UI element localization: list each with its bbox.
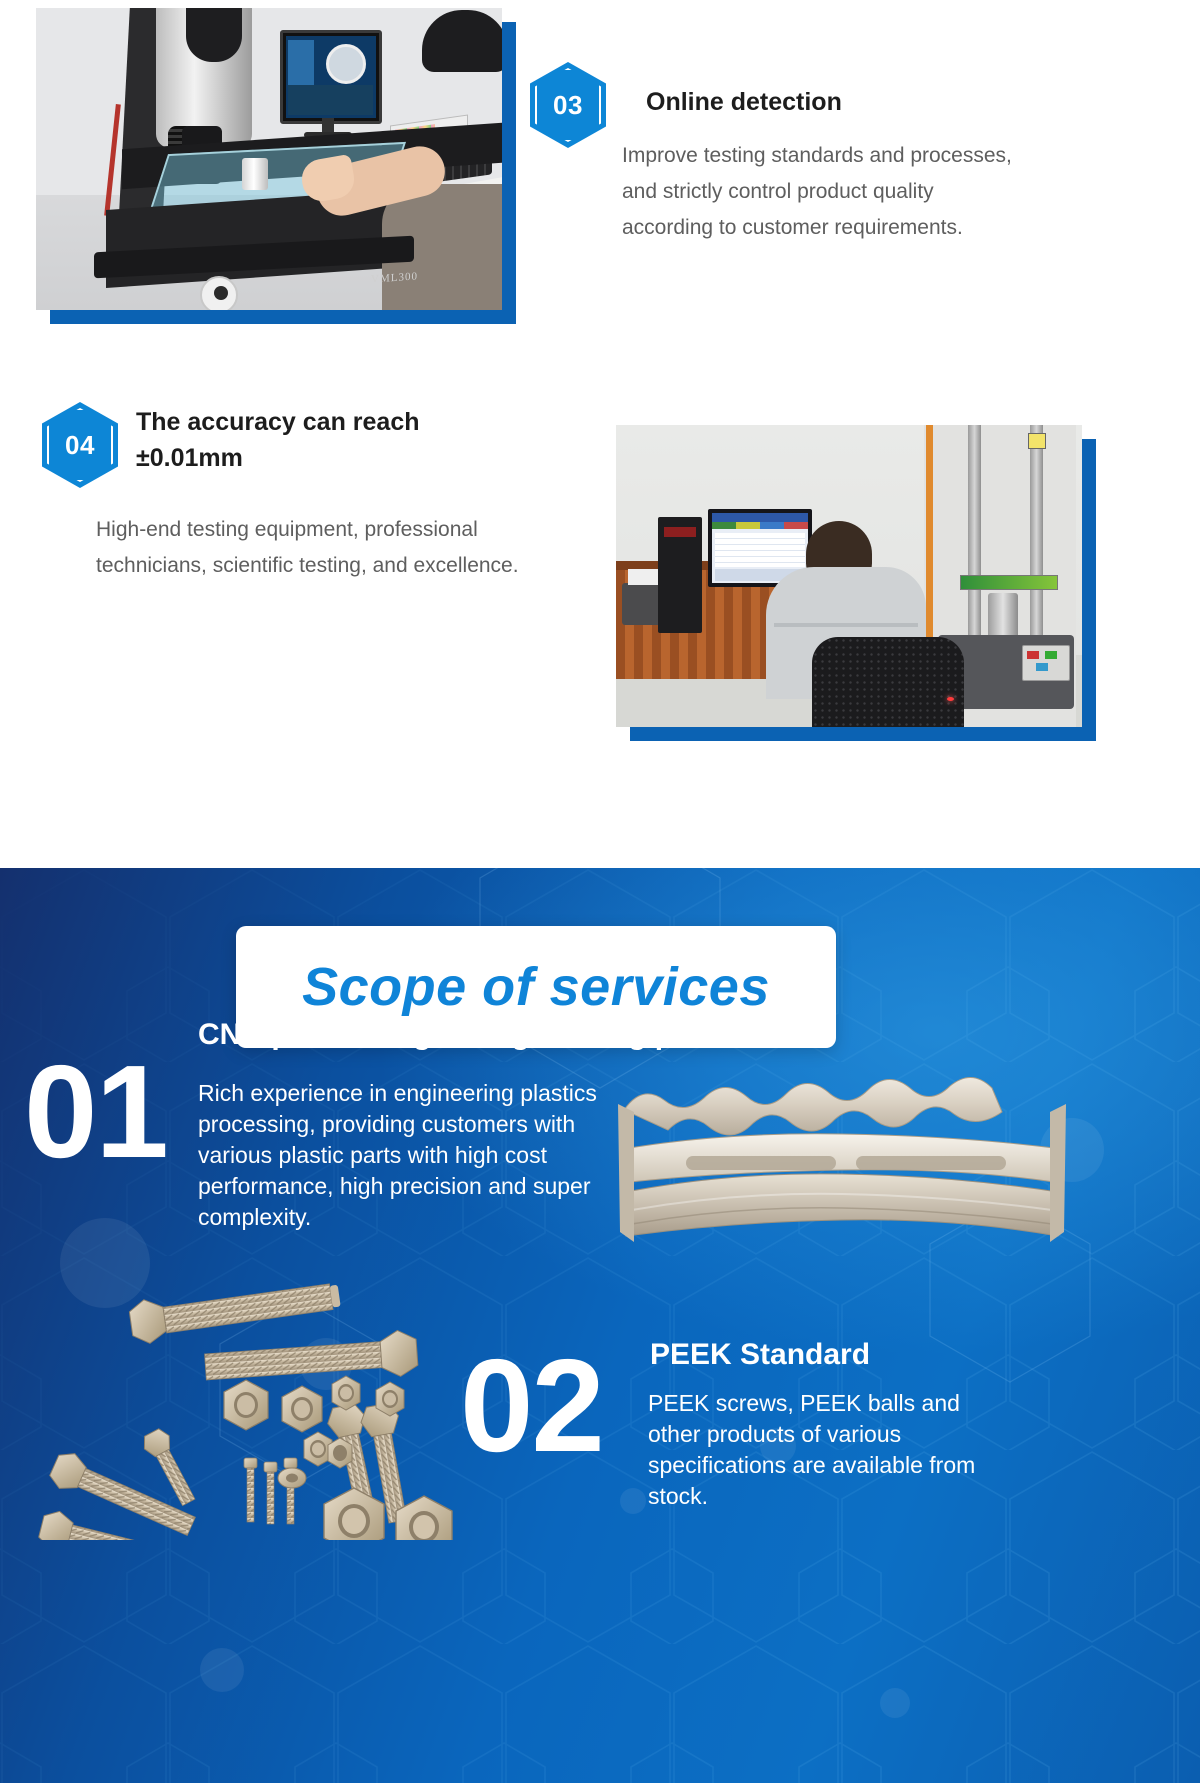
peek-machined-part-illustration xyxy=(616,1052,1068,1278)
feature-title-03: Online detection xyxy=(646,84,1066,120)
peek-fasteners-photo xyxy=(36,1272,488,1540)
feature-number-04: 04 xyxy=(42,402,118,488)
photo-image: VML300 xyxy=(36,8,502,310)
service-title-01: CNC processing of engineering plastics xyxy=(198,1018,938,1052)
cnc-part-photo xyxy=(616,1052,1068,1278)
feature-number-03: 03 xyxy=(530,62,606,148)
features-section: VML300 03 Online detection Improve testi… xyxy=(0,0,1200,868)
feature-body-03: Improve testing standards and processes,… xyxy=(622,138,1022,246)
photo-image xyxy=(616,425,1082,727)
feature-title-04: The accuracy can reach ±0.01mm xyxy=(136,404,516,477)
service-number-02: 02 xyxy=(460,1340,603,1472)
vision-measuring-machine-illustration: VML300 xyxy=(36,8,502,310)
service-number-01: 01 xyxy=(24,1046,167,1178)
scope-title: Scope of services xyxy=(302,956,770,1018)
marketing-page: VML300 03 Online detection Improve testi… xyxy=(0,0,1200,1783)
feature-badge-03: 03 xyxy=(530,62,606,148)
service-title-02: PEEK Standard xyxy=(650,1338,1130,1372)
peek-screws-illustration xyxy=(36,1272,488,1540)
accuracy-testing-photo xyxy=(616,425,1082,727)
feature-badge-04: 04 xyxy=(42,402,118,488)
tensile-testing-lab-illustration xyxy=(616,425,1082,727)
service-body-02: PEEK screws, PEEK balls and other produc… xyxy=(648,1388,1018,1512)
feature-body-04: High-end testing equipment, professional… xyxy=(96,512,526,584)
service-body-01: Rich experience in engineering plastics … xyxy=(198,1078,598,1233)
online-detection-photo: VML300 xyxy=(36,8,502,310)
